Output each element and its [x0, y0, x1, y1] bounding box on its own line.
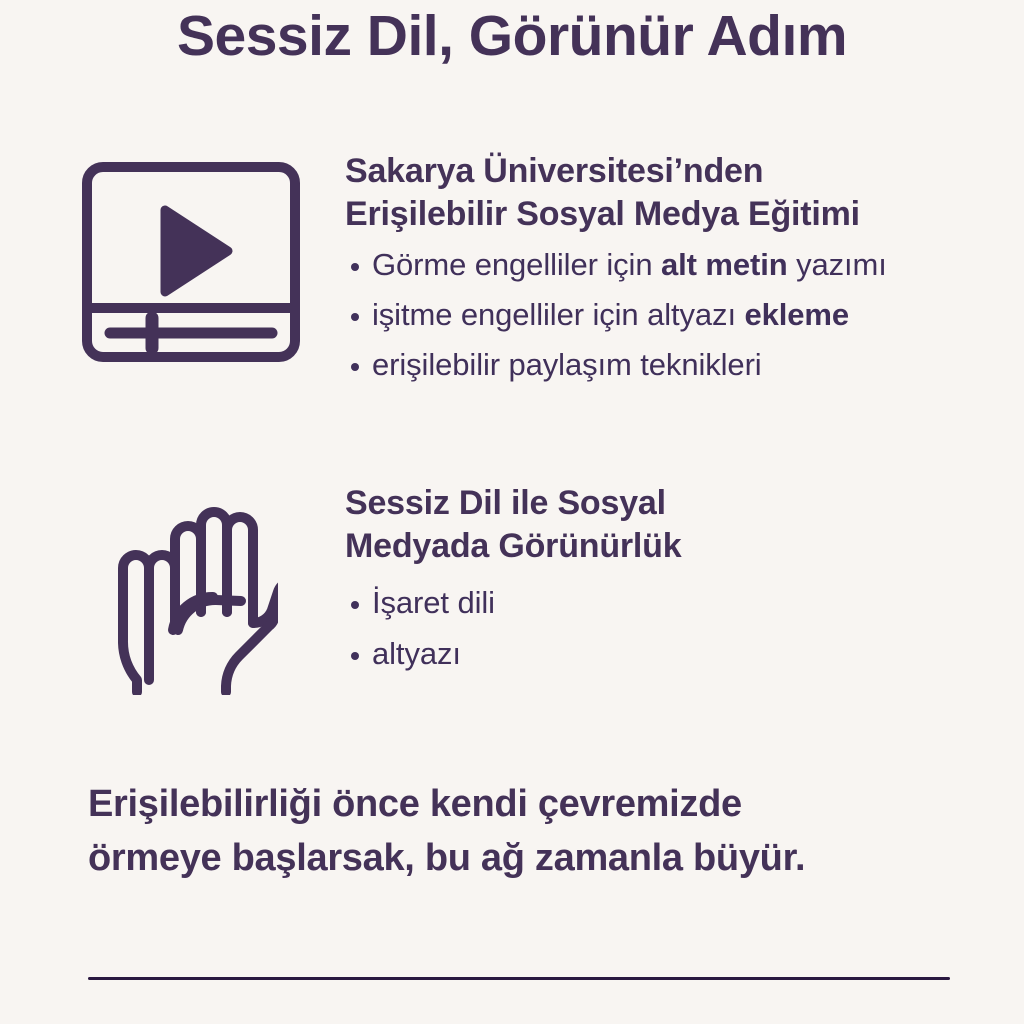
section-one-bullet-list: Görme engelliler için alt metin yazımı i… [345, 240, 1005, 390]
bullet-text-pre: erişilebilir paylaşım teknikleri [372, 347, 762, 382]
poster-canvas: Sessiz Dil, Görünür Adım Sakarya Ünivers… [0, 0, 1024, 1024]
bullet-text-pre: altyazı [372, 636, 461, 671]
page-title: Sessiz Dil, Görünür Adım [0, 4, 1024, 70]
section-one-heading: Sakarya Üniversitesi’nden Erişilebilir S… [345, 150, 1005, 236]
list-item: erişilebilir paylaşım teknikleri [345, 340, 1005, 390]
bullet-text-pre: Görme engelliler için [372, 247, 661, 282]
bullet-text-pre: işitme engelliler için altyazı [372, 297, 745, 332]
section-two-body: Sessiz Dil ile Sosyal Medyada Görünürlük… [345, 482, 1005, 679]
video-player-icon [82, 162, 300, 362]
list-item: altyazı [345, 629, 1005, 679]
section-two-heading: Sessiz Dil ile Sosyal Medyada Görünürlük [345, 482, 1005, 568]
raised-hand-icon [118, 490, 278, 695]
bullet-text-post: yazımı [788, 247, 887, 282]
bullet-text-strong: alt metin [661, 247, 788, 282]
list-item: Görme engelliler için alt metin yazımı [345, 240, 1005, 290]
closing-statement: Erişilebilirliği önce kendi çevremizde ö… [88, 778, 968, 886]
closing-line-1: Erişilebilirliği önce kendi çevremizde [88, 778, 968, 832]
closing-line-2: örmeye başlarsak, bu ağ zamanla büyür. [88, 832, 968, 886]
bullet-text-pre: İşaret dili [372, 585, 495, 620]
section-one-heading-line1: Sakarya Üniversitesi’nden [345, 150, 1005, 193]
bottom-divider [88, 977, 950, 980]
section-two-heading-line1: Sessiz Dil ile Sosyal [345, 482, 1005, 525]
list-item: işitme engelliler için altyazı ekleme [345, 290, 1005, 340]
section-one-body: Sakarya Üniversitesi’nden Erişilebilir S… [345, 150, 1005, 390]
list-item: İşaret dili [345, 578, 1005, 628]
section-one-heading-line2: Erişilebilir Sosyal Medya Eğitimi [345, 193, 1005, 236]
section-two-heading-line2: Medyada Görünürlük [345, 525, 1005, 568]
bullet-text-strong: ekleme [745, 297, 850, 332]
section-two-bullet-list: İşaret dili altyazı [345, 578, 1005, 678]
